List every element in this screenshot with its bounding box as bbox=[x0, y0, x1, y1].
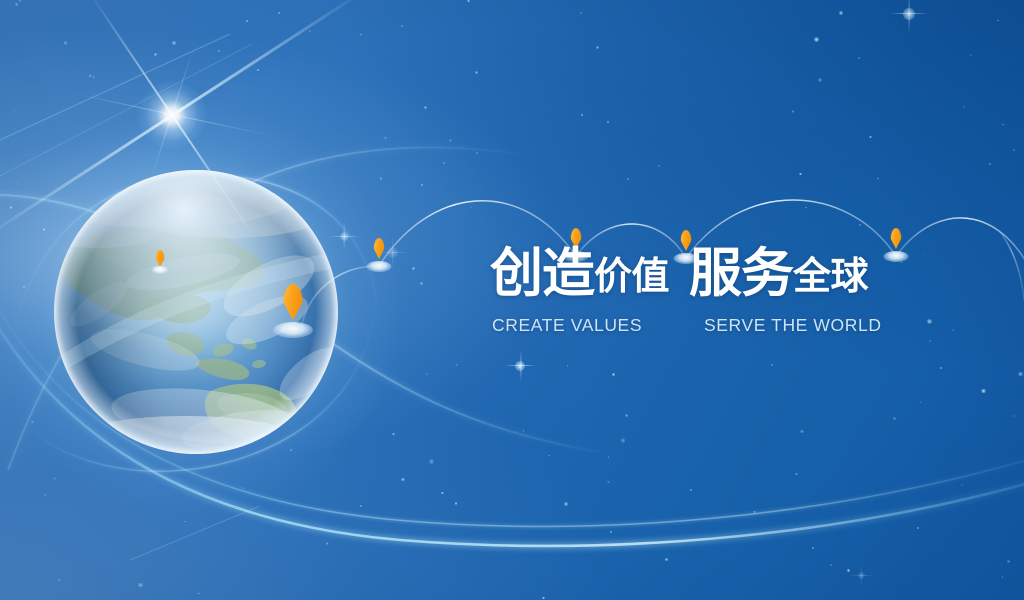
hero-banner: 创造价值服务全球 CREATE VALUES SERVE THE WORLD bbox=[0, 0, 1024, 600]
background-vignette bbox=[0, 0, 1024, 600]
